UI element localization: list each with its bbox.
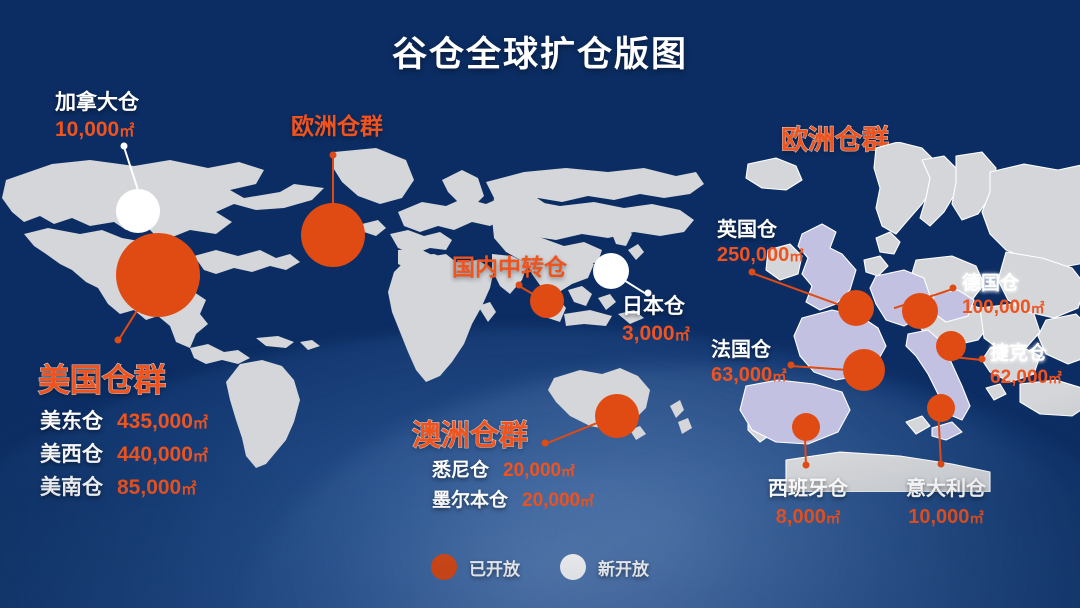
- canada-label-value: 10,000: [55, 118, 119, 141]
- us-group-heading: 美国仓群: [38, 355, 166, 401]
- legend-item-open: 已开放: [431, 554, 520, 580]
- canada-label-unit: ㎡: [119, 123, 134, 140]
- canada-warehouse-marker[interactable]: [116, 189, 160, 233]
- melbourne-name: 墨尔本仓: [432, 485, 508, 512]
- list-item: 悉尼仓 20,000㎡: [432, 455, 594, 482]
- italy-label-value: 10,000: [908, 506, 969, 528]
- germany-pin: [950, 285, 957, 292]
- japan-label-name: 日本仓: [622, 290, 690, 320]
- spain-label-value: 8,000: [776, 506, 826, 528]
- melbourne-unit: ㎡: [580, 494, 594, 509]
- us-cluster-marker[interactable]: [116, 233, 200, 317]
- italy-label-unit: ㎡: [969, 511, 983, 527]
- australia-group-heading: 澳洲仓群: [412, 412, 528, 454]
- france-label-unit: ㎡: [772, 369, 786, 385]
- italy-label-name: 意大利仓: [886, 472, 1006, 501]
- legend-new-label: 新开放: [598, 555, 649, 580]
- us-east-unit: ㎡: [193, 415, 208, 432]
- france-label: 法国仓 63,000㎡: [711, 333, 787, 387]
- sydney-name: 悉尼仓: [432, 455, 489, 482]
- italy-pin: [938, 461, 945, 468]
- spain-pin: [803, 462, 810, 469]
- europe-cluster-leader-line: [332, 156, 334, 206]
- legend-open-swatch-icon: [431, 554, 457, 580]
- us-west-name: 美西仓: [40, 438, 103, 468]
- us-pin: [115, 337, 122, 344]
- france-pin: [788, 362, 795, 369]
- spain-warehouse-marker[interactable]: [792, 413, 820, 441]
- legend-item-new: 新开放: [560, 554, 649, 580]
- canada-label-name: 加拿大仓: [55, 86, 139, 116]
- china-transit-pin: [516, 282, 523, 289]
- uk-label-name: 英国仓: [717, 213, 804, 242]
- uk-label: 英国仓 250,000㎡: [717, 213, 804, 267]
- spain-label: 西班牙仓 8,000㎡: [748, 472, 868, 529]
- page-title: 谷仓全球扩仓版图: [0, 26, 1080, 77]
- germany-label-unit: ㎡: [1031, 301, 1045, 316]
- china-transit-marker[interactable]: [530, 284, 564, 318]
- us-west-value: 440,000: [117, 443, 193, 466]
- czech-label-value: 62,000: [990, 367, 1048, 388]
- spain-label-name: 西班牙仓: [748, 472, 868, 501]
- czech-pin: [979, 356, 986, 363]
- canada-pin: [121, 143, 128, 150]
- europe-cluster-map-heading: 欧洲仓群: [291, 107, 383, 141]
- legend: 已开放 新开放: [0, 554, 1080, 580]
- spain-label-unit: ㎡: [826, 511, 840, 527]
- uk-warehouse-marker[interactable]: [838, 290, 874, 326]
- list-item: 美东仓 435,000㎡: [40, 405, 208, 435]
- germany-label: 德国仓 100,000㎡: [962, 268, 1044, 319]
- sydney-unit: ㎡: [561, 464, 575, 479]
- japan-label-value: 3,000: [622, 322, 675, 345]
- canada-label: 加拿大仓 10,000㎡: [55, 86, 139, 142]
- list-item: 美西仓 440,000㎡: [40, 438, 208, 468]
- europe-cluster-marker[interactable]: [301, 203, 365, 267]
- czech-warehouse-marker[interactable]: [936, 331, 966, 361]
- australia-cluster-marker[interactable]: [595, 394, 639, 438]
- us-west-unit: ㎡: [193, 448, 208, 465]
- japan-label-unit: ㎡: [675, 327, 690, 344]
- germany-label-name: 德国仓: [962, 268, 1044, 295]
- sydney-value: 20,000: [503, 460, 561, 481]
- czech-label: 捷克仓 62,000㎡: [990, 338, 1062, 389]
- france-label-value: 63,000: [711, 364, 772, 386]
- japan-warehouse-marker[interactable]: [593, 253, 629, 289]
- europe-cluster-pin: [330, 152, 337, 159]
- china-transit-label: 国内中转仓: [452, 248, 567, 282]
- legend-open-label: 已开放: [469, 555, 520, 580]
- italy-label: 意大利仓 10,000㎡: [886, 472, 1006, 529]
- us-south-unit: ㎡: [181, 481, 196, 498]
- france-label-name: 法国仓: [711, 333, 787, 362]
- germany-warehouse-marker[interactable]: [902, 293, 938, 329]
- us-south-name: 美南仓: [40, 471, 103, 501]
- list-item: 墨尔本仓 20,000㎡: [432, 485, 594, 512]
- japan-label: 日本仓 3,000㎡: [622, 290, 690, 346]
- list-item: 美南仓 85,000㎡: [40, 471, 208, 501]
- uk-label-unit: ㎡: [789, 249, 803, 265]
- legend-new-swatch-icon: [560, 554, 586, 580]
- australia-group-list: 悉尼仓 20,000㎡ 墨尔本仓 20,000㎡: [432, 455, 594, 515]
- france-warehouse-marker[interactable]: [843, 349, 885, 391]
- melbourne-value: 20,000: [522, 490, 580, 511]
- italy-warehouse-marker[interactable]: [927, 394, 955, 422]
- us-east-value: 435,000: [117, 410, 193, 433]
- australia-pin: [542, 440, 549, 447]
- us-group-list: 美东仓 435,000㎡ 美西仓 440,000㎡ 美南仓 85,000㎡: [40, 405, 208, 504]
- us-south-value: 85,000: [117, 476, 181, 499]
- uk-label-value: 250,000: [717, 244, 789, 266]
- infographic-canvas: 谷仓全球扩仓版图: [0, 0, 1080, 608]
- germany-label-value: 100,000: [962, 297, 1031, 318]
- uk-pin: [749, 269, 756, 276]
- czech-label-name: 捷克仓: [990, 338, 1062, 365]
- us-east-name: 美东仓: [40, 405, 103, 435]
- czech-label-unit: ㎡: [1048, 371, 1062, 386]
